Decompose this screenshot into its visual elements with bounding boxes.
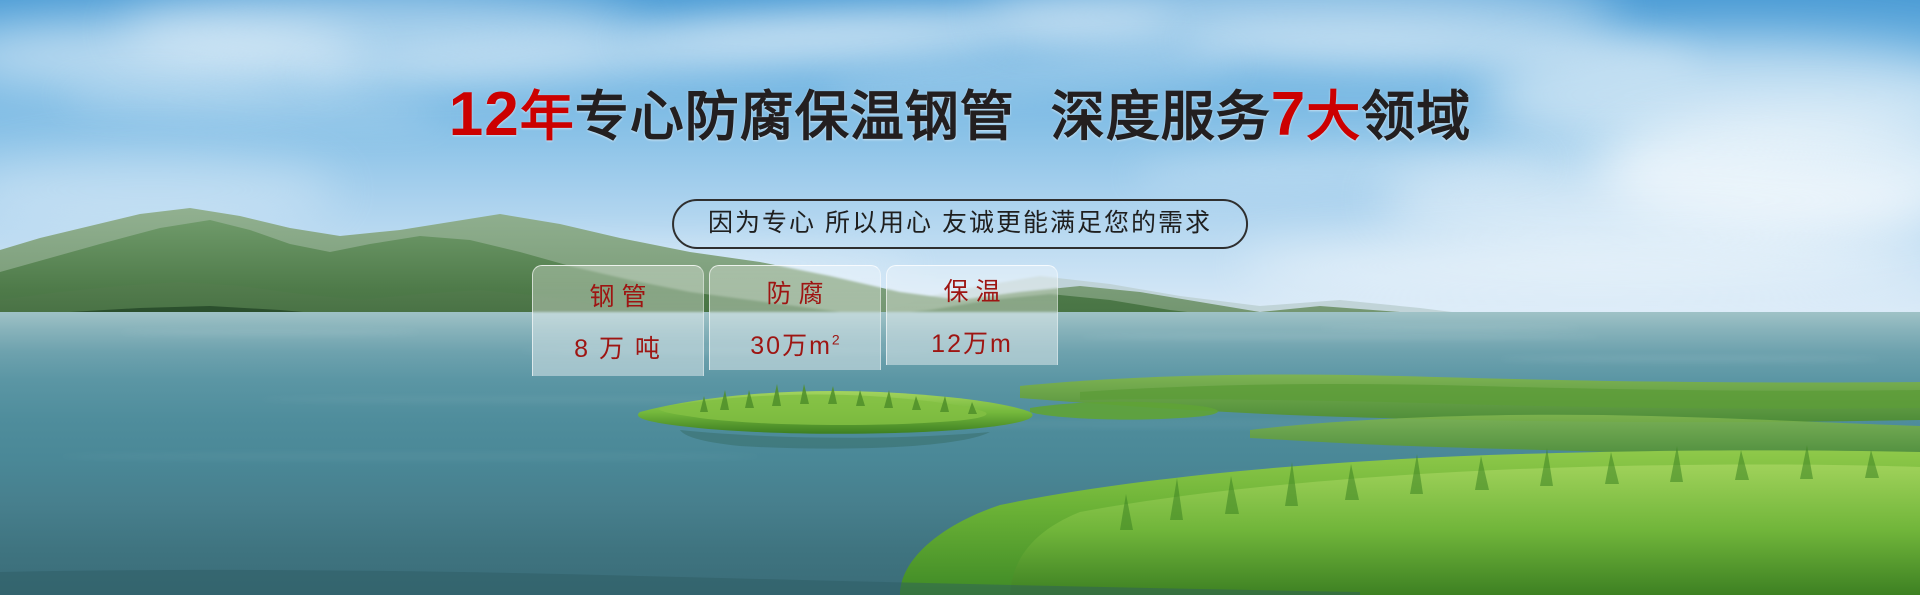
stat-card-value-text: 30万m — [750, 332, 832, 360]
stat-card-value: 8 万 吨 — [574, 329, 662, 365]
stat-card-steel-pipe: 钢管 8 万 吨 — [532, 265, 704, 376]
headline-fields-tail: 领域 — [1361, 87, 1471, 147]
subtitle-text: 因为专心 所以用心 友诚更能满足您的需求 — [708, 209, 1212, 237]
headline-years-unit: 年 — [520, 87, 575, 147]
headline-fields-unit: 大 — [1306, 87, 1361, 147]
stat-card-insulation: 保温 12万m — [886, 265, 1058, 365]
headline-service-text: 深度服务 — [1051, 87, 1271, 147]
hero-banner: 12年专心防腐保温钢管深度服务7大领域 因为专心 所以用心 友诚更能满足您的需求… — [0, 0, 1920, 595]
subtitle-pill: 因为专心 所以用心 友诚更能满足您的需求 — [672, 199, 1248, 249]
stat-card-value-text: 8 万 吨 — [574, 335, 662, 363]
headline-fields-number: 7 — [1271, 80, 1306, 149]
stat-card-label: 钢管 — [582, 277, 653, 313]
stat-card-value-superscript: 2 — [832, 332, 840, 348]
headline-main-text: 专心防腐保温钢管 — [575, 87, 1015, 147]
stat-cards: 钢管 8 万 吨 防腐 30万m2 保温 12万m — [532, 265, 1058, 376]
stat-card-label: 保温 — [936, 272, 1007, 308]
stat-card-value-text: 12万m — [931, 330, 1013, 358]
headline-years-number: 12 — [449, 80, 520, 149]
stat-card-value: 30万m2 — [750, 326, 839, 362]
stat-card-label: 防腐 — [759, 274, 830, 310]
page-title: 12年专心防腐保温钢管深度服务7大领域 — [0, 84, 1920, 148]
stat-card-value: 12万m — [931, 324, 1013, 360]
stat-card-anticorrosion: 防腐 30万m2 — [709, 265, 881, 370]
